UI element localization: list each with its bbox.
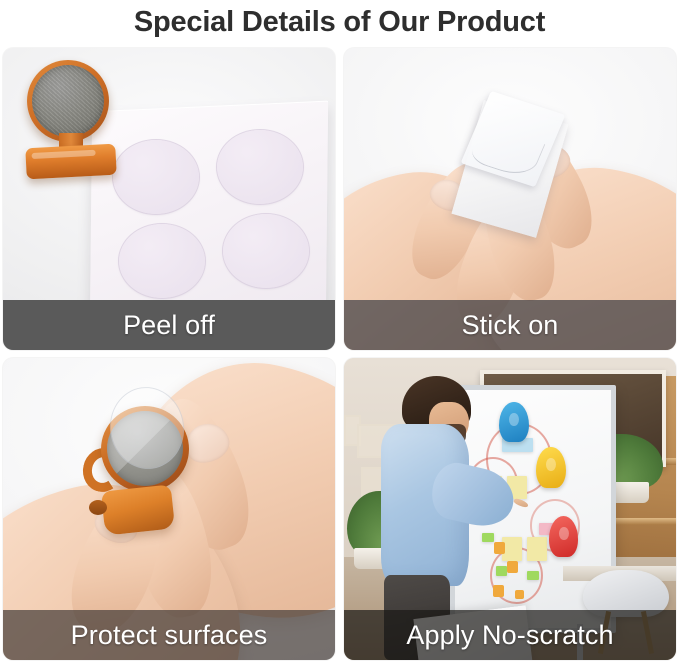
sticky-note (515, 590, 524, 600)
panel-stick-on[interactable]: Stick on (344, 48, 676, 350)
hook-bar (25, 144, 116, 180)
hook-body (101, 484, 175, 535)
caption-peel-off: Peel off (3, 300, 335, 350)
clip-red (549, 516, 579, 556)
sticky-note (527, 571, 539, 581)
round-sticker (223, 214, 309, 288)
panel-grid: Peel off Stick on (3, 48, 676, 662)
page-title: Special Details of Our Product (0, 0, 679, 46)
hook-nub (89, 500, 107, 515)
panel-protect-surfaces[interactable]: Protect surfaces (3, 358, 335, 660)
caption-protect-surfaces: Protect surfaces (3, 610, 335, 660)
clip-yellow (536, 447, 566, 487)
product-detail-infographic: Special Details of Our Product Peel off (0, 0, 679, 666)
round-sticker (217, 130, 303, 204)
caption-apply-no-scratch: Apply No-scratch (344, 610, 676, 660)
panel-peel-off[interactable]: Peel off (3, 48, 335, 350)
panel-apply-no-scratch[interactable]: Apply No-scratch (344, 358, 676, 660)
sticky-note (507, 561, 518, 573)
magnet-hook-orange (21, 58, 131, 183)
round-sticker (119, 224, 205, 298)
sticky-note (502, 537, 522, 561)
clip-blue (499, 402, 529, 442)
caption-stick-on: Stick on (344, 300, 676, 350)
sticky-note (527, 537, 547, 561)
magnet-disc-gray (32, 65, 104, 137)
